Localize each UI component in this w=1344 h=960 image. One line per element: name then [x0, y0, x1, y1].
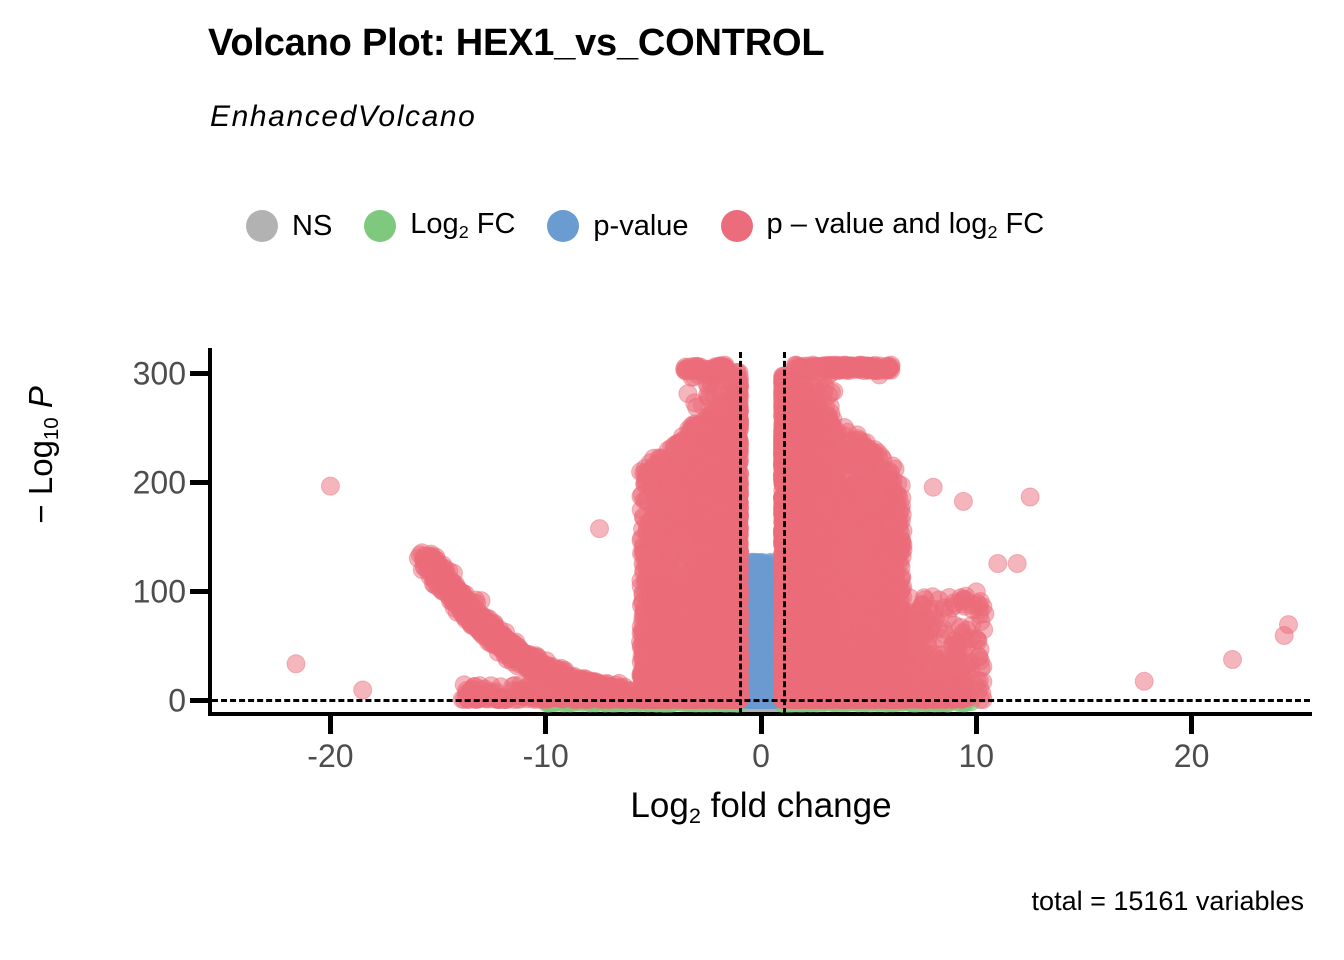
legend-swatch-ns-icon: [246, 210, 278, 242]
x-tick--20: [328, 716, 333, 734]
x-tick-label--10: -10: [523, 738, 569, 775]
y-tick-0: [190, 698, 210, 703]
legend-item-pvalue-log2fc[interactable]: p – value and log2 FC: [721, 210, 1045, 242]
page-title: Volcano Plot: HEX1_vs_CONTROL: [208, 22, 824, 65]
legend-label-log2fc: Log2 FC: [410, 210, 515, 241]
plot-subtitle: EnhancedVolcano: [210, 100, 476, 134]
y-tick-label-0: 0: [168, 682, 186, 719]
legend-item-ns[interactable]: NS: [246, 210, 332, 242]
legend-swatch-pvalue-log2fc-icon: [721, 210, 753, 242]
x-tick-10: [974, 716, 979, 734]
scatter-points-layer: [212, 352, 1310, 714]
y-tick-100: [190, 589, 210, 594]
legend-item-pvalue[interactable]: p-value: [547, 210, 688, 242]
volcano-plot: Volcano Plot: HEX1_vs_CONTROL EnhancedVo…: [0, 0, 1344, 960]
threshold-line-log2fc-negative: [739, 352, 742, 714]
y-tick-label-200: 200: [133, 464, 186, 501]
x-tick-label-10: 10: [958, 738, 994, 775]
legend: NS Log2 FC p-value p – value and log2 FC: [246, 202, 1044, 250]
x-tick--10: [543, 716, 548, 734]
x-tick-label-0: 0: [752, 738, 770, 775]
legend-swatch-log2fc-icon: [364, 210, 396, 242]
y-tick-label-100: 100: [133, 573, 186, 610]
y-tick-300: [190, 371, 210, 376]
legend-swatch-pvalue-icon: [547, 210, 579, 242]
legend-label-ns: NS: [292, 212, 332, 241]
plot-caption: total = 15161 variables: [1032, 886, 1304, 917]
legend-item-log2fc[interactable]: Log2 FC: [364, 210, 515, 242]
threshold-line-log2fc-positive: [783, 352, 786, 714]
y-axis-label: − Log10 P: [22, 280, 64, 630]
y-tick-label-300: 300: [133, 355, 186, 392]
threshold-line-pvalue: [212, 699, 1310, 702]
x-tick-0: [759, 716, 764, 734]
y-tick-200: [190, 480, 210, 485]
x-tick-label--20: -20: [307, 738, 353, 775]
x-axis-label: Log2 fold change: [212, 786, 1310, 829]
x-tick-20: [1189, 716, 1194, 734]
x-tick-label-20: 20: [1174, 738, 1210, 775]
legend-label-pvalue-log2fc: p – value and log2 FC: [767, 210, 1045, 241]
legend-label-pvalue: p-value: [593, 212, 688, 241]
